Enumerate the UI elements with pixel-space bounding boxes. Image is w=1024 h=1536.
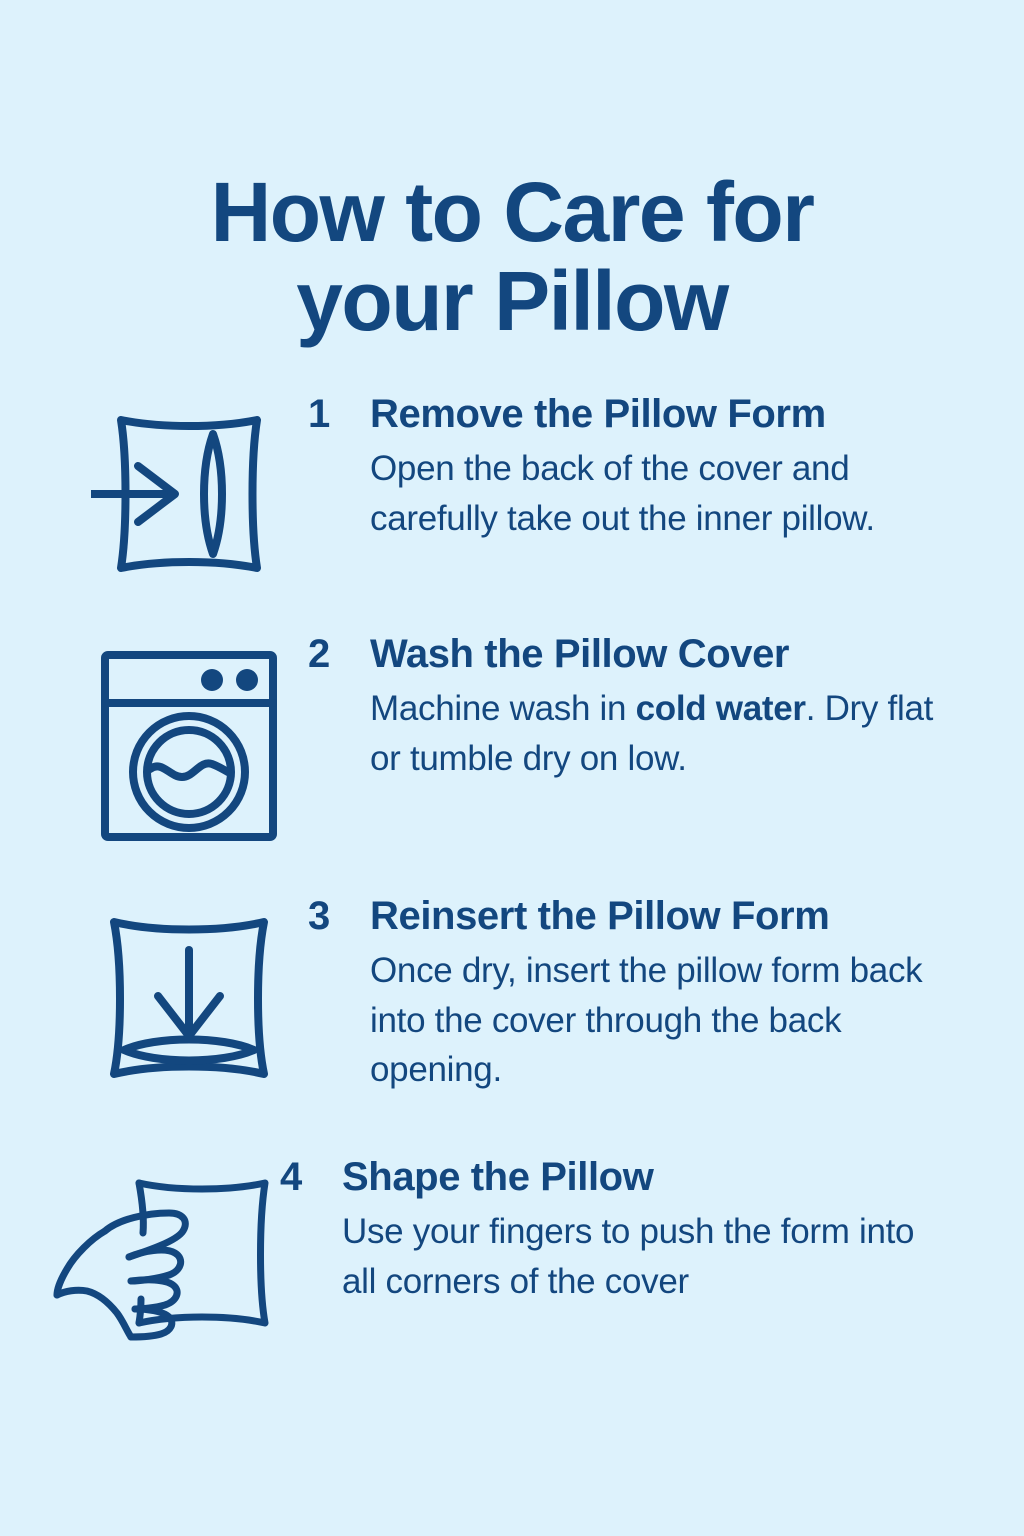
step-2-heading: Wash the Pillow Cover bbox=[370, 634, 1024, 674]
step-2-description: Machine wash in cold water. Dry flat or … bbox=[370, 684, 950, 783]
step-4-body: 4 Shape the Pillow Use your fingers to p… bbox=[280, 1155, 1024, 1306]
step-1-text: Remove the Pillow Form Open the back of … bbox=[370, 394, 1024, 543]
step-2-icon-wrap bbox=[70, 632, 308, 842]
step-2-desc-bold: cold water bbox=[636, 689, 806, 728]
step-4-number: 4 bbox=[280, 1157, 342, 1197]
step-1-desc-before: Open the back of the cover and carefully… bbox=[370, 449, 875, 538]
step-1-body: 1 Remove the Pillow Form Open the back o… bbox=[308, 392, 1024, 543]
step-2-text: Wash the Pillow Cover Machine wash in co… bbox=[370, 634, 1024, 783]
step-item-2: 2 Wash the Pillow Cover Machine wash in … bbox=[0, 632, 1024, 842]
step-3-body: 3 Reinsert the Pillow Form Once dry, ins… bbox=[308, 894, 1024, 1095]
washing-machine-icon bbox=[100, 650, 278, 842]
step-1-description: Open the back of the cover and carefully… bbox=[370, 444, 950, 543]
step-4-text: Shape the Pillow Use your fingers to pus… bbox=[342, 1157, 1024, 1306]
step-item-4: 4 Shape the Pillow Use your fingers to p… bbox=[0, 1155, 1024, 1343]
step-4-desc-before: Use your fingers to push the form into a… bbox=[342, 1212, 914, 1301]
step-4-icon-wrap bbox=[42, 1155, 280, 1343]
hand-pointing-at-pillow-icon bbox=[43, 1171, 279, 1343]
pillow-with-down-arrow-icon bbox=[96, 910, 282, 1086]
step-1-icon-wrap bbox=[70, 392, 308, 580]
step-3-heading: Reinsert the Pillow Form bbox=[370, 896, 1024, 936]
step-3-icon-wrap bbox=[70, 894, 308, 1086]
step-item-3: 3 Reinsert the Pillow Form Once dry, ins… bbox=[0, 894, 1024, 1095]
pillow-with-incoming-arrow-icon bbox=[91, 408, 287, 580]
infographic-page: How to Care for your Pillow 1 Remov bbox=[0, 0, 1024, 1536]
step-item-1: 1 Remove the Pillow Form Open the back o… bbox=[0, 392, 1024, 580]
step-4-heading: Shape the Pillow bbox=[342, 1157, 1024, 1197]
step-3-desc-before: Once dry, insert the pillow form back in… bbox=[370, 951, 922, 1089]
page-title-line-1: How to Care for bbox=[90, 168, 934, 257]
step-2-number: 2 bbox=[308, 634, 370, 674]
page-title: How to Care for your Pillow bbox=[0, 168, 1024, 346]
step-1-number: 1 bbox=[308, 394, 370, 434]
step-1-heading: Remove the Pillow Form bbox=[370, 394, 1024, 434]
step-3-description: Once dry, insert the pillow form back in… bbox=[370, 946, 950, 1095]
steps-list: 1 Remove the Pillow Form Open the back o… bbox=[0, 392, 1024, 1343]
page-title-line-2: your Pillow bbox=[90, 257, 934, 346]
step-3-text: Reinsert the Pillow Form Once dry, inser… bbox=[370, 896, 1024, 1095]
step-4-description: Use your fingers to push the form into a… bbox=[342, 1207, 922, 1306]
step-3-number: 3 bbox=[308, 896, 370, 936]
step-2-desc-before: Machine wash in bbox=[370, 689, 636, 728]
step-2-body: 2 Wash the Pillow Cover Machine wash in … bbox=[308, 632, 1024, 783]
